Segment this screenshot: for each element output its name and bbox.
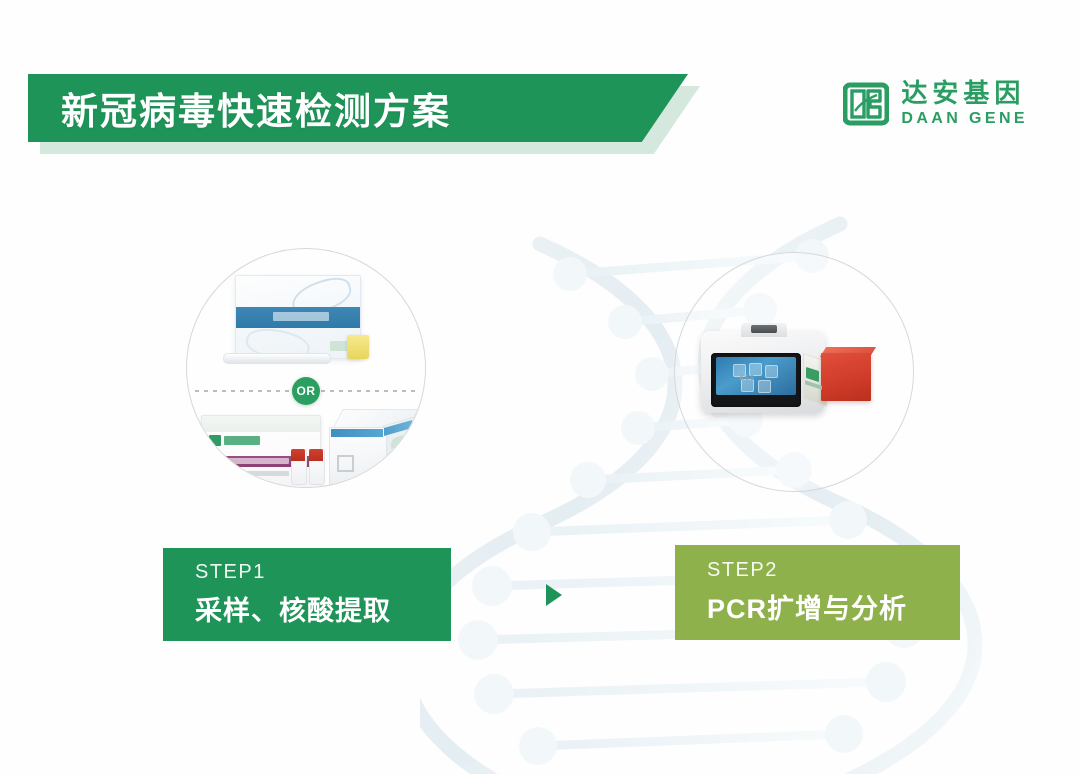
page-title: 新冠病毒快速检测方案 (61, 81, 451, 135)
step-1-band: STEP1 采样、核酸提取 (163, 548, 451, 641)
kit-brand-mark (209, 435, 221, 446)
swab-box-band-text (273, 312, 329, 321)
logo-wordmark: 达安基因 DAAN GENE (901, 80, 1028, 127)
kit-subtitle-text (214, 471, 290, 476)
kit-purple-band-text (228, 458, 289, 464)
screen-app-icon[interactable] (765, 365, 778, 378)
box-blue-stripe (331, 429, 383, 437)
header-banner: 新冠病毒快速检测方案 (28, 74, 688, 142)
slide-canvas: 新冠病毒快速检测方案 达安基因 DAAN GENE (0, 0, 1080, 774)
instrument-sample-slot[interactable] (751, 325, 777, 333)
logo-name-en: DAAN GENE (901, 111, 1028, 127)
logo-name-cn: 达安基因 (901, 80, 1028, 106)
step-2-band: STEP2 PCR扩增与分析 (675, 545, 960, 640)
sampling-products-circle: OR (186, 248, 426, 488)
swab-tube (223, 353, 331, 364)
screen-app-icon[interactable] (758, 380, 771, 393)
instrument-screen-bezel (711, 353, 801, 407)
swab-tube-cap (347, 335, 369, 359)
or-divider: OR (187, 377, 425, 405)
step-2-title: PCR扩增与分析 (707, 587, 960, 626)
swab-box-band (236, 307, 360, 328)
step-flow-arrow (546, 584, 562, 606)
instrument-touchscreen[interactable] (716, 357, 796, 395)
vial-cap (309, 449, 323, 461)
sampling-swab-box (235, 275, 361, 359)
step-1-title: 采样、核酸提取 (195, 589, 451, 628)
reagent-vial (291, 449, 307, 485)
pcr-reagent-kit-box (803, 347, 875, 409)
reagent-box-front-face (821, 353, 871, 401)
step-1-kicker: STEP1 (195, 561, 451, 584)
kit-brand-text (224, 436, 259, 445)
vial-cap (291, 449, 305, 461)
instrument-model-label: A66 (739, 375, 755, 382)
or-badge: OR (292, 377, 320, 405)
step-2-kicker: STEP2 (707, 559, 960, 582)
extraction-reagent-box (329, 409, 419, 487)
kit-top-band (202, 416, 320, 432)
daan-gene-bracket-mark-icon (843, 81, 889, 127)
pcr-instrument-circle: A66 (674, 252, 914, 492)
reagent-vial (309, 449, 325, 485)
box-qr-mark (337, 455, 354, 472)
brand-logo: 达安基因 DAAN GENE (843, 80, 1028, 127)
